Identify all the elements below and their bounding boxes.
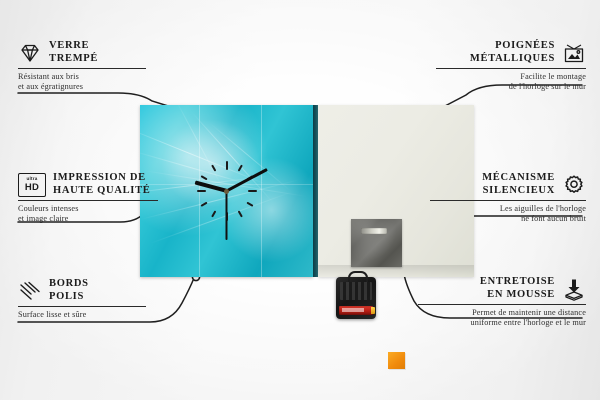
callout-divider (430, 200, 586, 201)
polished-edge-icon (18, 279, 42, 303)
ultra-hd-icon-top: ultra (27, 177, 38, 182)
callout-title-line1: ENTRETOISE (480, 276, 555, 289)
callout-sub-line2: de l'horloge sur le mur (436, 82, 586, 92)
callout-sub-line1: Surface lisse et sûre (18, 310, 146, 320)
clock-mechanism-box (336, 277, 376, 319)
callout-title-line2: EN MOUSSE (480, 289, 555, 302)
infographic-canvas: VERRE TREMPÉ Résistant aux bris et aux é… (0, 0, 600, 400)
callout-title-line2: SILENCIEUX (482, 185, 555, 198)
callout-sub-line2: et image claire (18, 214, 158, 224)
callout-title-line2: MÉTALLIQUES (470, 53, 555, 66)
callout-divider (18, 200, 158, 201)
mechanism-hanging-loop (348, 271, 368, 282)
callout-sub-line1: Permet de maintenir une distance (418, 308, 586, 318)
callout-divider (418, 304, 586, 305)
clock-second-hand (226, 191, 228, 240)
callout-sub-line1: Les aiguilles de l'horloge (430, 204, 586, 214)
callout-sub-line1: Couleurs intenses (18, 204, 158, 214)
callout-divider (18, 68, 146, 69)
glass-pane-line (261, 105, 262, 277)
callout-title-line1: MÉCANISME (482, 172, 555, 185)
callout-sub-line1: Résistant aux bris (18, 72, 146, 82)
callout-sub-line2: uniforme entre l'horloge et le mur (418, 318, 586, 328)
diamond-icon (18, 41, 42, 65)
ultra-hd-icon-bottom: HD (25, 183, 39, 193)
callout-title-line2: POLIS (49, 291, 89, 304)
foam-spacer-arrow-icon (562, 277, 586, 301)
ultra-hd-icon: ultra HD (18, 173, 46, 197)
picture-frame-hanger-icon (562, 41, 586, 65)
battery (339, 306, 373, 315)
mechanism-grill (340, 282, 372, 300)
callout-title-line1: POIGNÉES (470, 40, 555, 53)
callout-title-line2: HAUTE QUALITÉ (53, 185, 151, 198)
callout-sub-line1: Facilite le montage (436, 72, 586, 82)
product-image (140, 105, 474, 277)
callout-impression-haute-qualite: ultra HD IMPRESSION DE HAUTE QUALITÉ Cou… (18, 172, 158, 224)
battery-label (342, 308, 364, 312)
callout-poignees-metalliques: POIGNÉES MÉTALLIQUES Facilite le montage… (436, 40, 586, 92)
callout-title-line1: BORDS (49, 278, 89, 291)
callout-title-line2: TREMPÉ (49, 53, 98, 66)
callout-divider (436, 68, 586, 69)
handle-keyhole-slot (361, 228, 387, 234)
gear-icon (562, 173, 586, 197)
clock-face (140, 105, 313, 277)
clock-center-cap (224, 189, 229, 194)
callout-sub-line2: et aux égratignures (18, 82, 146, 92)
metal-handle-plate (351, 219, 402, 267)
callout-title-line1: VERRE (49, 40, 98, 53)
callout-divider (18, 306, 146, 307)
callout-bords-polis: BORDS POLIS Surface lisse et sûre (18, 278, 146, 320)
callout-entretoise-en-mousse: ENTRETOISE EN MOUSSE Permet de maintenir… (418, 276, 586, 328)
callout-sub-line2: ne font aucun bruit (430, 214, 586, 224)
callout-mecanisme-silencieux: MÉCANISME SILENCIEUX Les aiguilles de l'… (430, 172, 586, 224)
callout-title-line1: IMPRESSION DE (53, 172, 151, 185)
foam-spacer-pad (388, 352, 405, 369)
callout-verre-trempe: VERRE TREMPÉ Résistant aux bris et aux é… (18, 40, 146, 92)
